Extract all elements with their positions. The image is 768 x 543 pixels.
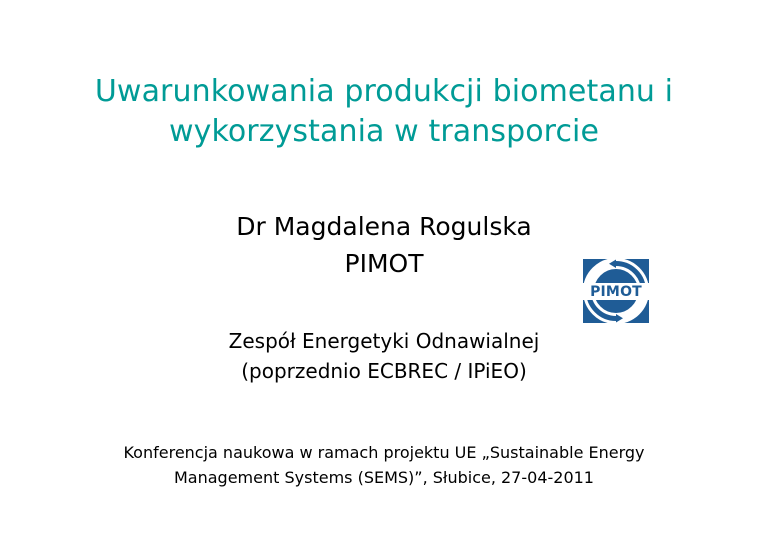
slide-title: Uwarunkowania produkcji biometanu i wyko… [0,72,768,152]
author-organization: PIMOT [0,245,768,282]
conference-footer: Konferencja naukowa w ramach projektu UE… [0,440,768,490]
department-former-name: (poprzednio ECBREC / IPiEO) [0,356,768,386]
department-name: Zespół Energetyki Odnawialnej [0,326,768,356]
logo-wordmark: PIMOT [590,284,642,300]
conference-footer-line-2: Management Systems (SEMS)”, Słubice, 27-… [0,465,768,490]
slide-title-line-2: wykorzystania w transporcie [0,112,768,152]
author-name: Dr Magdalena Rogulska [0,208,768,245]
author-block: Dr Magdalena Rogulska PIMOT [0,208,768,282]
pimot-logo: PIMOT [583,259,649,323]
conference-footer-line-1: Konferencja naukowa w ramach projektu UE… [0,440,768,465]
department-block: Zespół Energetyki Odnawialnej (poprzedni… [0,326,768,386]
presentation-slide: Uwarunkowania produkcji biometanu i wyko… [0,0,768,543]
slide-title-line-1: Uwarunkowania produkcji biometanu i [0,72,768,112]
